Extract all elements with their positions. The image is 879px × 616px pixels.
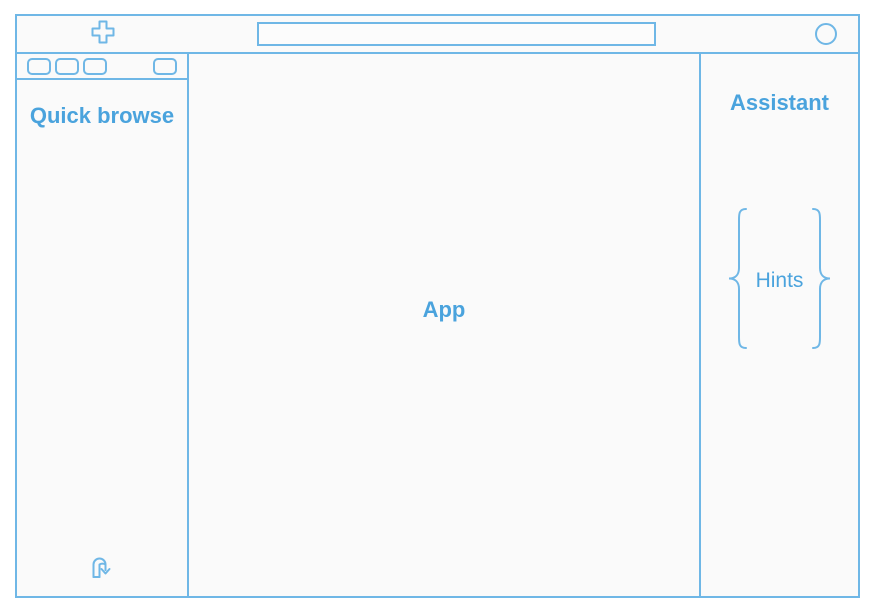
tab-chip-2[interactable] bbox=[55, 58, 79, 75]
quick-browse-title: Quick browse bbox=[17, 102, 187, 130]
circle-avatar-icon bbox=[815, 23, 837, 45]
content-row: Quick browse App Assi bbox=[17, 54, 858, 596]
tab-chip-4[interactable] bbox=[153, 58, 177, 75]
brace-left-icon bbox=[726, 206, 752, 356]
add-button[interactable] bbox=[17, 16, 189, 52]
brace-right-icon bbox=[807, 206, 833, 356]
tab-chip-1[interactable] bbox=[27, 58, 51, 75]
tab-chip-3[interactable] bbox=[83, 58, 107, 75]
u-turn-button[interactable] bbox=[17, 553, 187, 586]
sidebar-panel: Quick browse bbox=[17, 54, 189, 596]
hints-group: Hints bbox=[701, 206, 858, 356]
u-turn-arrow-icon bbox=[88, 553, 116, 586]
assistant-title: Assistant bbox=[701, 90, 858, 116]
search-input[interactable] bbox=[257, 22, 656, 46]
search-field-container bbox=[189, 16, 700, 52]
app-label: App bbox=[423, 297, 466, 323]
sidebar-body: Quick browse bbox=[17, 80, 187, 596]
app-panel: App bbox=[189, 54, 701, 596]
top-bar bbox=[17, 16, 858, 54]
account-button[interactable] bbox=[700, 16, 858, 52]
plus-icon bbox=[90, 19, 116, 50]
sidebar-tab-row bbox=[17, 54, 187, 80]
wireframe-window: Quick browse App Assi bbox=[15, 14, 860, 598]
hints-label: Hints bbox=[756, 269, 804, 293]
assistant-panel: Assistant Hints bbox=[701, 54, 858, 596]
